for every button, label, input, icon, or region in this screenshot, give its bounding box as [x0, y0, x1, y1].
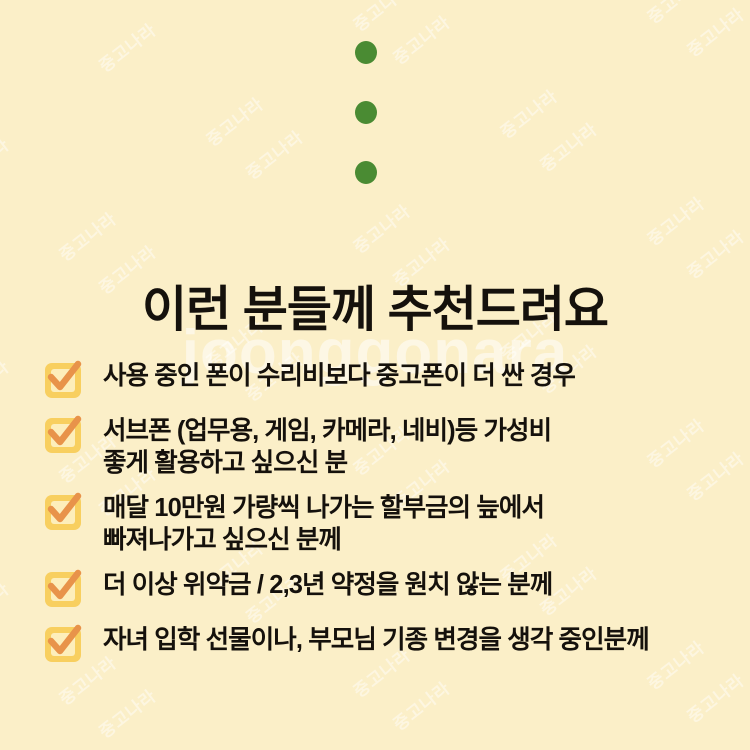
checklist-item: 사용 중인 폰이 수리비보다 중고폰이 더 싼 경우 [43, 355, 743, 398]
check-mark-icon [43, 413, 83, 453]
checked-checkbox-icon [43, 490, 83, 530]
check-mark-icon [43, 358, 83, 398]
checklist-item-text: 사용 중인 폰이 수리비보다 중고폰이 더 싼 경우 [103, 355, 575, 393]
checklist-item-line-1: 서브폰 (업무용, 게임, 카메라, 네비)등 가성비 [103, 417, 551, 445]
checklist-item-text: 서브폰 (업무용, 게임, 카메라, 네비)등 가성비좋게 활용하고 싶으신 분 [103, 410, 551, 479]
green-dot-icon [355, 41, 377, 64]
checklist-item: 더 이상 위약금 / 2,3년 약정을 원치 않는 분께 [43, 564, 743, 607]
checklist-item-line-1: 매달 10만원 가량씩 나가는 할부금의 늪에서 [103, 494, 544, 522]
checklist-item-line-1: 더 이상 위약금 / 2,3년 약정을 원치 않는 분께 [103, 571, 552, 599]
checklist-item-line-2: 빠져나가고 싶으신 분께 [103, 525, 544, 557]
poster-content: 이런 분들께 추천드려요 사용 중인 폰이 수리비보다 중고폰이 더 싼 경우서… [0, 0, 750, 750]
bullet-dots-group [355, 41, 379, 221]
checklist-item-line-1: 사용 중인 폰이 수리비보다 중고폰이 더 싼 경우 [103, 362, 575, 390]
checked-checkbox-icon [43, 358, 83, 398]
checklist-item: 자녀 입학 선물이나, 부모님 기종 변경을 생각 중인분께 [43, 619, 743, 662]
promo-poster: 중고나라중고나라중고나라중고나라중고나라중고나라중고나라중고나라중고나라중고나라… [0, 0, 750, 750]
checklist-item-line-2: 좋게 활용하고 싶으신 분 [103, 448, 551, 480]
checklist-item-text: 매달 10만원 가량씩 나가는 할부금의 늪에서빠져나가고 싶으신 분께 [103, 487, 544, 556]
checklist-item: 서브폰 (업무용, 게임, 카메라, 네비)등 가성비좋게 활용하고 싶으신 분 [43, 410, 743, 479]
checklist-item: 매달 10만원 가량씩 나가는 할부금의 늪에서빠져나가고 싶으신 분께 [43, 487, 743, 556]
checked-checkbox-icon [43, 413, 83, 453]
green-dot-icon [355, 101, 377, 124]
checklist-item-line-1: 자녀 입학 선물이나, 부모님 기종 변경을 생각 중인분께 [103, 626, 649, 654]
checked-checkbox-icon [43, 567, 83, 607]
checklist-item-text: 자녀 입학 선물이나, 부모님 기종 변경을 생각 중인분께 [103, 619, 649, 657]
checked-checkbox-icon [43, 622, 83, 662]
page-title: 이런 분들께 추천드려요 [0, 282, 750, 340]
check-mark-icon [43, 567, 83, 607]
check-mark-icon [43, 622, 83, 662]
checklist-item-text: 더 이상 위약금 / 2,3년 약정을 원치 않는 분께 [103, 564, 552, 602]
check-mark-icon [43, 490, 83, 530]
checklist: 사용 중인 폰이 수리비보다 중고폰이 더 싼 경우서브폰 (업무용, 게임, … [43, 355, 743, 674]
green-dot-icon [355, 161, 377, 184]
